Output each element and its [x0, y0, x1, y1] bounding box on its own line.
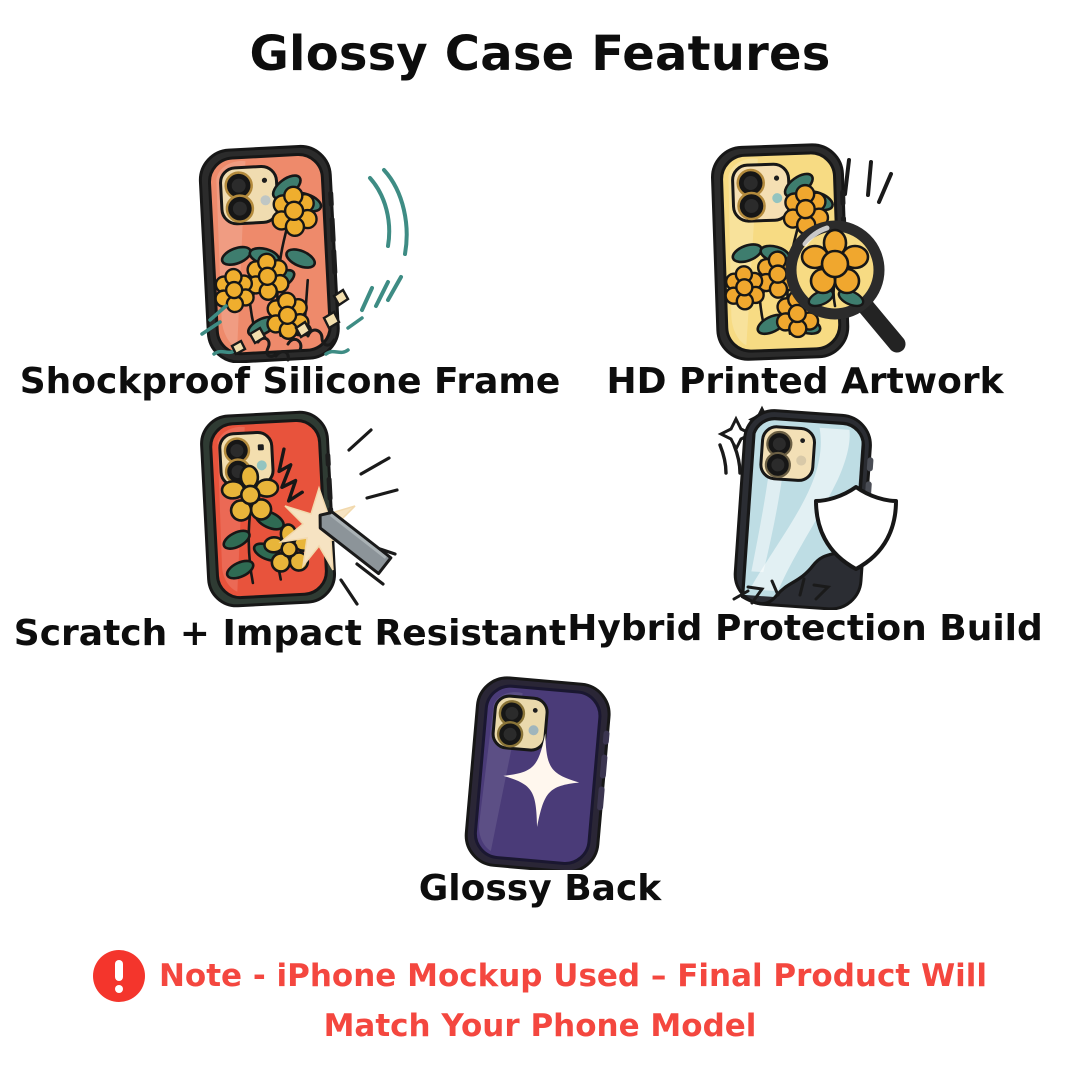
phone-case-shield-hybrid-icon	[540, 395, 1070, 610]
feature-glossy-back: Glossy Back	[275, 675, 805, 908]
feature-hd-printed-artwork: HD Printed Artwork	[540, 128, 1070, 401]
phone-case-glossy-sparkle-icon	[275, 675, 805, 870]
feature-hybrid-protection-build: Hybrid Protection Build	[540, 395, 1070, 648]
phone-case-magnifier-icon	[540, 128, 1070, 363]
feature-label: Hybrid Protection Build	[540, 610, 1070, 648]
feature-label: Glossy Back	[275, 870, 805, 908]
feature-label: Shockproof Silicone Frame	[10, 363, 570, 401]
glossy-case-features-infographic: Glossy Case Features	[0, 0, 1080, 1080]
note-text-line-2: Match Your Phone Model	[324, 1008, 757, 1044]
feature-shockproof-silicone-frame: Shockproof Silicone Frame	[10, 128, 570, 401]
phone-case-knife-strike-icon	[10, 400, 570, 615]
page-title: Glossy Case Features	[0, 26, 1080, 82]
disclaimer-note: Note - iPhone Mockup Used – Final Produc…	[0, 950, 1080, 1044]
exclamation-circle-icon	[93, 950, 145, 1002]
phone-case-shock-impact-icon	[10, 128, 570, 363]
feature-label: Scratch + Impact Resistant	[10, 615, 570, 653]
feature-scratch-impact-resistant: Scratch + Impact Resistant	[10, 400, 570, 653]
note-text-line-1: Note - iPhone Mockup Used – Final Produc…	[159, 958, 987, 994]
